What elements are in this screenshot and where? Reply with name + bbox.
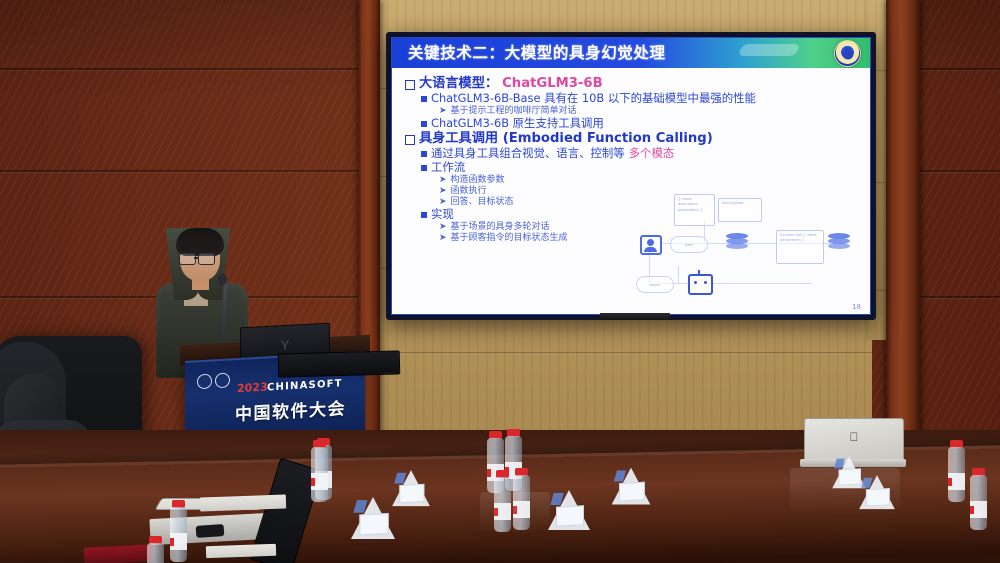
bullet-accent-text: 多个模态 <box>629 148 675 159</box>
bullet-text: 通过具身工具组合视觉、语言、控制等 <box>431 148 625 159</box>
bottle-body <box>147 543 164 563</box>
presentation-screen: 关键技术二：大模型的具身幻觉处理 大语言模型： ChatGLM3-6B Chat… <box>386 32 876 320</box>
podium-english-name: CHINASOFT <box>267 378 343 393</box>
table-name-card <box>612 468 651 507</box>
diagram-box-tool-register: tool register <box>718 198 762 222</box>
slide: 关键技术二：大模型的具身幻觉处理 大语言模型： ChatGLM3-6B Chat… <box>391 37 871 315</box>
glasses-bridge <box>194 257 198 259</box>
water-bottle <box>970 468 987 530</box>
bullet-text: 基于场景的具身多轮对话 <box>451 223 550 232</box>
table-laptop-dark <box>278 350 401 377</box>
bullet-l1: 大语言模型： ChatGLM3-6B <box>405 77 860 90</box>
bullet-text: ChatGLM3-6B 原生支持工具调用 <box>431 118 604 129</box>
bullet-text: 基于顾客指令的目标状态生成 <box>451 234 568 243</box>
filled-square-bullet-icon <box>421 212 427 218</box>
bullet-text: ChatGLM3-6B-Base 具有在 10B 以下的基础模型中最强的性能 <box>431 93 756 104</box>
screen-stand <box>600 313 670 320</box>
filled-square-bullet-icon <box>421 151 427 157</box>
function-calling-flow-diagram: { name description parameters } tool reg… <box>632 188 864 298</box>
bullet-text: 大语言模型： <box>419 77 498 90</box>
bullet-l2: ChatGLM3-6B 原生支持工具调用 <box>421 118 860 129</box>
bottle-body <box>948 447 965 502</box>
bullet-text: 函数执行 <box>451 187 487 196</box>
bottle-body <box>311 447 328 502</box>
laptop-brand-logo-icon: Y <box>281 337 290 352</box>
conference-room-photo: 关键技术二：大模型的具身幻觉处理 大语言模型： ChatGLM3-6B Chat… <box>0 0 1000 563</box>
papers-stack <box>200 495 286 512</box>
university-emblem-icon <box>834 40 861 67</box>
name-card-face <box>359 513 388 536</box>
smartphone <box>196 524 225 538</box>
arrow-bullet-icon: ➤ <box>439 107 447 116</box>
arrow-bullet-icon: ➤ <box>439 223 447 232</box>
bottle-label <box>970 501 987 518</box>
bullet-accent-text: ChatGLM3-6B <box>502 77 603 90</box>
query-cloud-label: query <box>670 236 708 253</box>
water-bottle <box>170 500 187 562</box>
diagram-box-function-call: function call { name parameters } <box>776 230 824 264</box>
hollow-square-bullet-icon <box>405 80 415 90</box>
bullet-l3: ➤ 基于提示工程的咖啡厅简单对话 <box>439 107 860 116</box>
arrow-bullet-icon: ➤ <box>439 198 447 207</box>
bullet-text: 实现 <box>431 209 454 220</box>
bottle-label <box>311 473 328 490</box>
conference-logo-right-icon <box>215 373 230 389</box>
microphone-icon <box>218 274 227 285</box>
table-reflection <box>790 468 900 516</box>
hollow-square-bullet-icon <box>405 135 415 145</box>
bullet-l2: 工作流 <box>421 162 860 173</box>
bottle-body <box>970 475 987 530</box>
bullet-text: 基于提示工程的咖啡厅简单对话 <box>451 107 577 116</box>
conference-logo-left-icon <box>197 374 212 390</box>
glasses-lens-right <box>198 253 215 265</box>
slide-content: 大语言模型： ChatGLM3-6B ChatGLM3-6B-Base 具有在 … <box>392 70 870 314</box>
podium-year: 2023 <box>237 380 268 395</box>
filled-square-bullet-icon <box>421 121 427 127</box>
arrow-bullet-icon: ➤ <box>439 187 447 196</box>
slide-title-bar: 关键技术二：大模型的具身幻觉处理 <box>392 38 870 70</box>
database-icon <box>726 233 748 252</box>
apple-logo-icon:  <box>850 430 859 444</box>
slide-page-number: 18 <box>852 303 861 311</box>
bullet-l2: 通过具身工具组合视觉、语言、控制等 多个模态 <box>421 148 860 159</box>
filled-square-bullet-icon <box>421 165 427 171</box>
filled-square-bullet-icon <box>421 96 427 102</box>
table-reflection <box>480 492 550 532</box>
bullet-l1: 具身工具调用 (Embodied Function Calling) <box>405 132 860 145</box>
glasses-lens-left <box>179 253 196 265</box>
water-bottle <box>948 440 965 502</box>
arrow-bullet-icon: ➤ <box>439 234 447 243</box>
water-bottle <box>311 440 328 502</box>
bottle-body <box>170 507 187 562</box>
bullet-l3: ➤ 构造函数参数 <box>439 176 860 185</box>
presenter-hair <box>176 228 224 256</box>
name-card-face <box>399 484 424 503</box>
name-card-face <box>556 505 584 526</box>
arrow-bullet-icon: ➤ <box>439 176 447 185</box>
bullet-text: 具身工具调用 (Embodied Function Calling) <box>419 132 713 145</box>
answer-cloud-label: answer <box>636 276 674 293</box>
bullet-text: 构造函数参数 <box>451 176 505 185</box>
podium-chinese-name: 中国软件大会 <box>235 394 346 425</box>
table-name-card <box>548 490 590 532</box>
table-name-card <box>392 470 430 508</box>
database-icon <box>828 233 850 252</box>
page-title: 关键技术二：大模型的具身幻觉处理 <box>408 41 666 63</box>
robot-icon <box>688 274 713 295</box>
bullet-l2: ChatGLM3-6B-Base 具有在 10B 以下的基础模型中最强的性能 <box>421 93 860 104</box>
bottle-label <box>948 473 965 490</box>
bullet-text: 回答、目标状态 <box>451 198 514 207</box>
papers-stack <box>206 544 276 558</box>
wood-pillar-right <box>886 0 920 440</box>
bottle-label <box>170 533 187 550</box>
table-name-card <box>351 497 395 541</box>
bullet-text: 工作流 <box>431 162 465 173</box>
red-notebook <box>84 544 155 563</box>
diagram-box-tool-spec: { name description parameters } <box>674 194 715 226</box>
user-icon <box>640 235 662 255</box>
water-bottle <box>147 536 164 563</box>
name-card-face <box>619 482 645 502</box>
